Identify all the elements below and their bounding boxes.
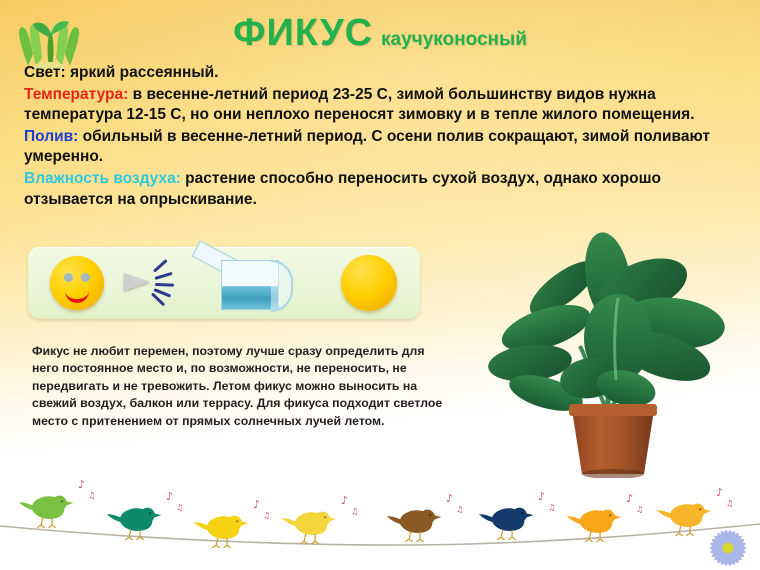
care-item-light: Свет: яркий рассеянный. [24, 63, 740, 84]
music-note-icon: ♪ [341, 494, 348, 507]
ficus-elastica-photo [468, 228, 758, 478]
yellow-circle-icon [341, 255, 397, 311]
title-main: ФИКУС [233, 12, 373, 54]
slide-root: ФИКУСкаучуконосный Свет: яркий рассеянны… [0, 0, 760, 570]
spray-ray-icon [155, 283, 174, 287]
spray-ray-icon [155, 272, 173, 280]
care-label-humidity: Влажность воздуха: [24, 170, 181, 187]
daisy-flower [705, 528, 751, 568]
music-note-icon: ♪ [78, 478, 85, 491]
sun-eye-left-icon [64, 273, 73, 282]
care-label-light: Свет: [24, 64, 66, 81]
care-instructions: Свет: яркий рассеянный. Температура: в в… [24, 63, 740, 211]
bird-lightyellow [282, 512, 336, 544]
care-text-light: яркий рассеянный. [66, 64, 219, 81]
care-text-watering: обильный в весенне-летний период. С осен… [24, 128, 710, 166]
daisy-center [723, 543, 734, 554]
spray-bottle-icon [124, 269, 154, 295]
wire [0, 524, 760, 545]
music-note-icon: ♪ [253, 498, 260, 511]
care-item-temperature: Температура: в весенне-летний период 23-… [24, 85, 740, 126]
spray-nozzle-icon [124, 273, 150, 291]
sun-eye-right-icon [81, 273, 90, 282]
smiling-sun-icon [50, 256, 104, 310]
care-label-temperature: Температура: [24, 86, 128, 103]
care-label-watering: Полив: [24, 128, 78, 145]
music-note-icon: ♪ [166, 490, 173, 503]
bird-green [19, 496, 73, 528]
music-note-icon: ♫ [636, 505, 643, 514]
music-note-icon: ♫ [726, 499, 733, 508]
page-title: ФИКУСкаучуконосный [0, 14, 760, 52]
music-note-icon: ♫ [548, 503, 555, 512]
watering-can-icon [191, 257, 296, 311]
music-note-icon: ♫ [263, 511, 270, 520]
birds-on-wire: ♪♫♪♫♪♫♪♫♪♫♪♫♪♫♪♫ [0, 468, 760, 570]
music-note-icon: ♫ [88, 491, 95, 500]
bird-yellow [194, 516, 248, 548]
bird-navy [479, 508, 533, 540]
title-sub: каучуконосный [381, 29, 527, 50]
note-paragraph: Фикус не любит перемен, поэтому лучше ср… [32, 343, 452, 430]
care-icon-bar [28, 247, 420, 319]
music-note-icon: ♪ [446, 492, 453, 505]
care-item-watering: Полив: обильный в весенне-летний период.… [24, 127, 740, 168]
music-note-icon: ♪ [538, 490, 545, 503]
watering-can-handle-icon [271, 260, 293, 312]
spray-ray-icon [153, 259, 168, 273]
care-item-humidity: Влажность воздуха: растение способно пер… [24, 169, 740, 210]
music-note-icon: ♪ [716, 486, 723, 499]
bird-brown [387, 510, 441, 542]
music-note-icon: ♫ [176, 503, 183, 512]
music-note-icon: ♪ [626, 492, 633, 505]
music-note-icon: ♫ [456, 505, 463, 514]
music-note-icon: ♫ [351, 507, 358, 516]
sun-smile-icon [65, 287, 89, 303]
